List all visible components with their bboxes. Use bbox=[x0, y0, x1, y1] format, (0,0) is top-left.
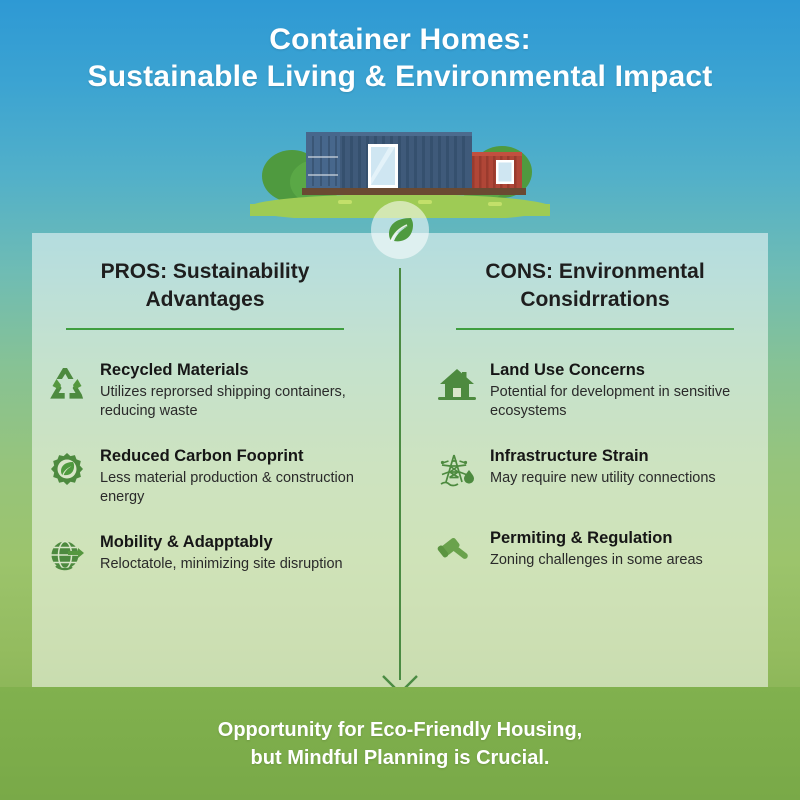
house-icon bbox=[430, 360, 484, 416]
item-title: Infrastructure Strain bbox=[490, 446, 760, 466]
pros-heading-line-1: PROS: Sustainability bbox=[40, 258, 370, 286]
item-title: Permiting & Regulation bbox=[490, 528, 760, 548]
gear-leaf-icon bbox=[40, 446, 94, 502]
recycle-icon bbox=[40, 360, 94, 416]
power-pylon-water-drop-icon bbox=[430, 446, 484, 502]
title-line-1: Container Homes: bbox=[0, 22, 800, 58]
list-item: Reduced Carbon Fooprint Less material pr… bbox=[40, 446, 370, 506]
pros-item-list: Recycled Materials Utilizes reprorsed sh… bbox=[40, 360, 370, 588]
footer-line-1: Opportunity for Eco-Friendly Housing, bbox=[218, 716, 582, 744]
list-item: Recycled Materials Utilizes reprorsed sh… bbox=[40, 360, 370, 420]
gavel-icon bbox=[430, 528, 484, 584]
item-title: Reduced Carbon Fooprint bbox=[100, 446, 370, 466]
pros-column: PROS: Sustainability Advantages Recycled… bbox=[40, 258, 370, 614]
cons-heading-rule bbox=[456, 328, 734, 330]
pros-heading-line-2: Advantages bbox=[40, 286, 370, 314]
leaf-icon bbox=[383, 213, 417, 247]
item-description: Less material production & construction … bbox=[100, 469, 370, 506]
leaf-badge bbox=[371, 201, 429, 259]
cons-item-list: Land Use Concerns Potential for developm… bbox=[430, 360, 760, 584]
item-title: Land Use Concerns bbox=[490, 360, 760, 380]
item-description: May require new utility connections bbox=[490, 469, 760, 488]
pros-heading: PROS: Sustainability Advantages bbox=[40, 258, 370, 314]
footer-banner: Opportunity for Eco-Friendly Housing, bu… bbox=[0, 687, 800, 800]
cons-heading-line-1: CONS: Environmental bbox=[430, 258, 760, 286]
list-item: Infrastructure Strain May require new ut… bbox=[430, 446, 760, 502]
item-description: Potential for development in sensitive e… bbox=[490, 383, 760, 420]
item-title: Mobility & Adapptably bbox=[100, 532, 370, 552]
cons-heading-line-2: Considrrations bbox=[430, 286, 760, 314]
page-title: Container Homes: Sustainable Living & En… bbox=[0, 22, 800, 96]
list-item: Permiting & Regulation Zoning challenges… bbox=[430, 528, 760, 584]
cons-heading: CONS: Environmental Considrrations bbox=[430, 258, 760, 314]
pros-heading-rule bbox=[66, 328, 344, 330]
infographic-canvas: Container Homes: Sustainable Living & En… bbox=[0, 0, 800, 800]
footer-text: Opportunity for Eco-Friendly Housing, bu… bbox=[218, 716, 582, 772]
item-description: Reloctatole, minimizing site disruption bbox=[100, 555, 370, 574]
title-line-2: Sustainable Living & Environmental Impac… bbox=[0, 58, 800, 96]
list-item: Mobility & Adapptably Reloctatole, minim… bbox=[40, 532, 370, 588]
item-title: Recycled Materials bbox=[100, 360, 370, 380]
column-divider bbox=[399, 268, 401, 680]
item-description: Utilizes reprorsed shipping containers, … bbox=[100, 383, 370, 420]
list-item: Land Use Concerns Potential for developm… bbox=[430, 360, 760, 420]
cons-column: CONS: Environmental Considrrations Land … bbox=[430, 258, 760, 610]
globe-arrow-icon bbox=[40, 532, 94, 588]
footer-line-2: but Mindful Planning is Crucial. bbox=[218, 744, 582, 772]
item-description: Zoning challenges in some areas bbox=[490, 551, 760, 570]
